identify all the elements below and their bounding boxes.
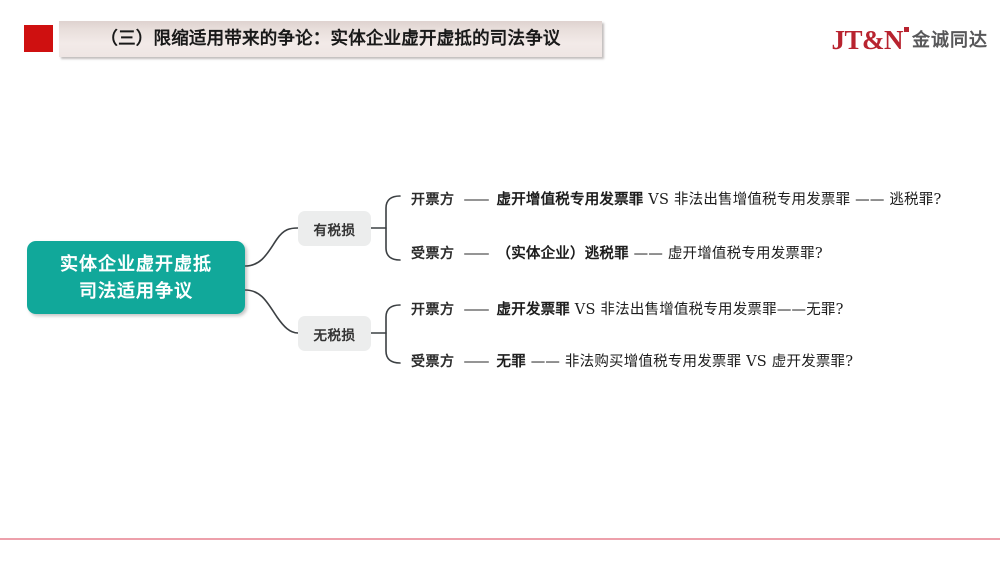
leaf-dash: —— [464, 302, 488, 318]
leaf-row: 开票方 —— 虚开发票罪 VS 非法出售增值税专用发票罪——无罪? [411, 298, 844, 319]
leaf-party-label: 受票方 [411, 243, 455, 263]
logo-registered-dot [904, 27, 909, 32]
page-title: （三）限缩适用带来的争论：实体企业虚开虚抵的司法争议 [59, 21, 602, 57]
leaf-body-rest: —— 非法购买增值税专用发票罪 VS 虚开发票罪? [526, 354, 853, 370]
leaf-body: 无罪 —— 非法购买增值税专用发票罪 VS 虚开发票罪? [497, 350, 854, 371]
logo-wordmark-text: JT&N [832, 25, 904, 55]
leaf-body: （实体企业）逃税罪 —— 虚开增值税专用发票罪? [497, 242, 823, 263]
leaf-body-rest: VS 非法出售增值税专用发票罪 —— 逃税罪? [644, 192, 942, 208]
logo-chinese-name: 金诚同达 [912, 28, 988, 54]
root-node-line-1: 实体企业虚开虚抵 [60, 251, 212, 278]
branch-pill-no-tax-loss[interactable]: 无税损 [298, 316, 371, 351]
leaf-body-strong: 虚开增值税专用发票罪 [497, 191, 644, 208]
leaf-body-strong: 虚开发票罪 [497, 301, 571, 318]
footer-rule [0, 538, 1000, 540]
leaf-party-label: 开票方 [411, 299, 455, 319]
root-node-line-2: 司法适用争议 [79, 278, 193, 305]
leaf-body: 虚开增值税专用发票罪 VS 非法出售增值税专用发票罪 —— 逃税罪? [497, 188, 942, 209]
logo-wordmark: JT&N [832, 26, 904, 54]
leaf-row: 开票方 —— 虚开增值税专用发票罪 VS 非法出售增值税专用发票罪 —— 逃税罪… [411, 188, 941, 209]
leaf-body-rest: VS 非法出售增值税专用发票罪——无罪? [570, 302, 844, 318]
slide-title-bar: （三）限缩适用带来的争论：实体企业虚开虚抵的司法争议 [59, 21, 602, 57]
header-bullet-square [24, 25, 53, 52]
leaf-dash: —— [464, 246, 488, 262]
brand-logo: JT&N 金诚同达 [832, 20, 989, 54]
leaf-row: 受票方 —— （实体企业）逃税罪 —— 虚开增值税专用发票罪? [411, 242, 823, 263]
leaf-dash: —— [464, 192, 488, 208]
leaf-body-strong: （实体企业）逃税罪 [497, 245, 629, 262]
mindmap-root-node[interactable]: 实体企业虚开虚抵 司法适用争议 [27, 241, 245, 314]
branch-pill-with-tax-loss[interactable]: 有税损 [298, 211, 371, 246]
leaf-party-label: 开票方 [411, 189, 455, 209]
leaf-party-label: 受票方 [411, 351, 455, 371]
leaf-row: 受票方 —— 无罪 —— 非法购买增值税专用发票罪 VS 虚开发票罪? [411, 350, 853, 371]
leaf-dash: —— [464, 354, 488, 370]
slide-canvas: （三）限缩适用带来的争论：实体企业虚开虚抵的司法争议 JT&N 金诚同达 实体企… [0, 0, 1000, 563]
leaf-body: 虚开发票罪 VS 非法出售增值税专用发票罪——无罪? [497, 298, 844, 319]
leaf-body-strong: 无罪 [497, 353, 526, 370]
leaf-body-rest: —— 虚开增值税专用发票罪? [629, 246, 823, 262]
